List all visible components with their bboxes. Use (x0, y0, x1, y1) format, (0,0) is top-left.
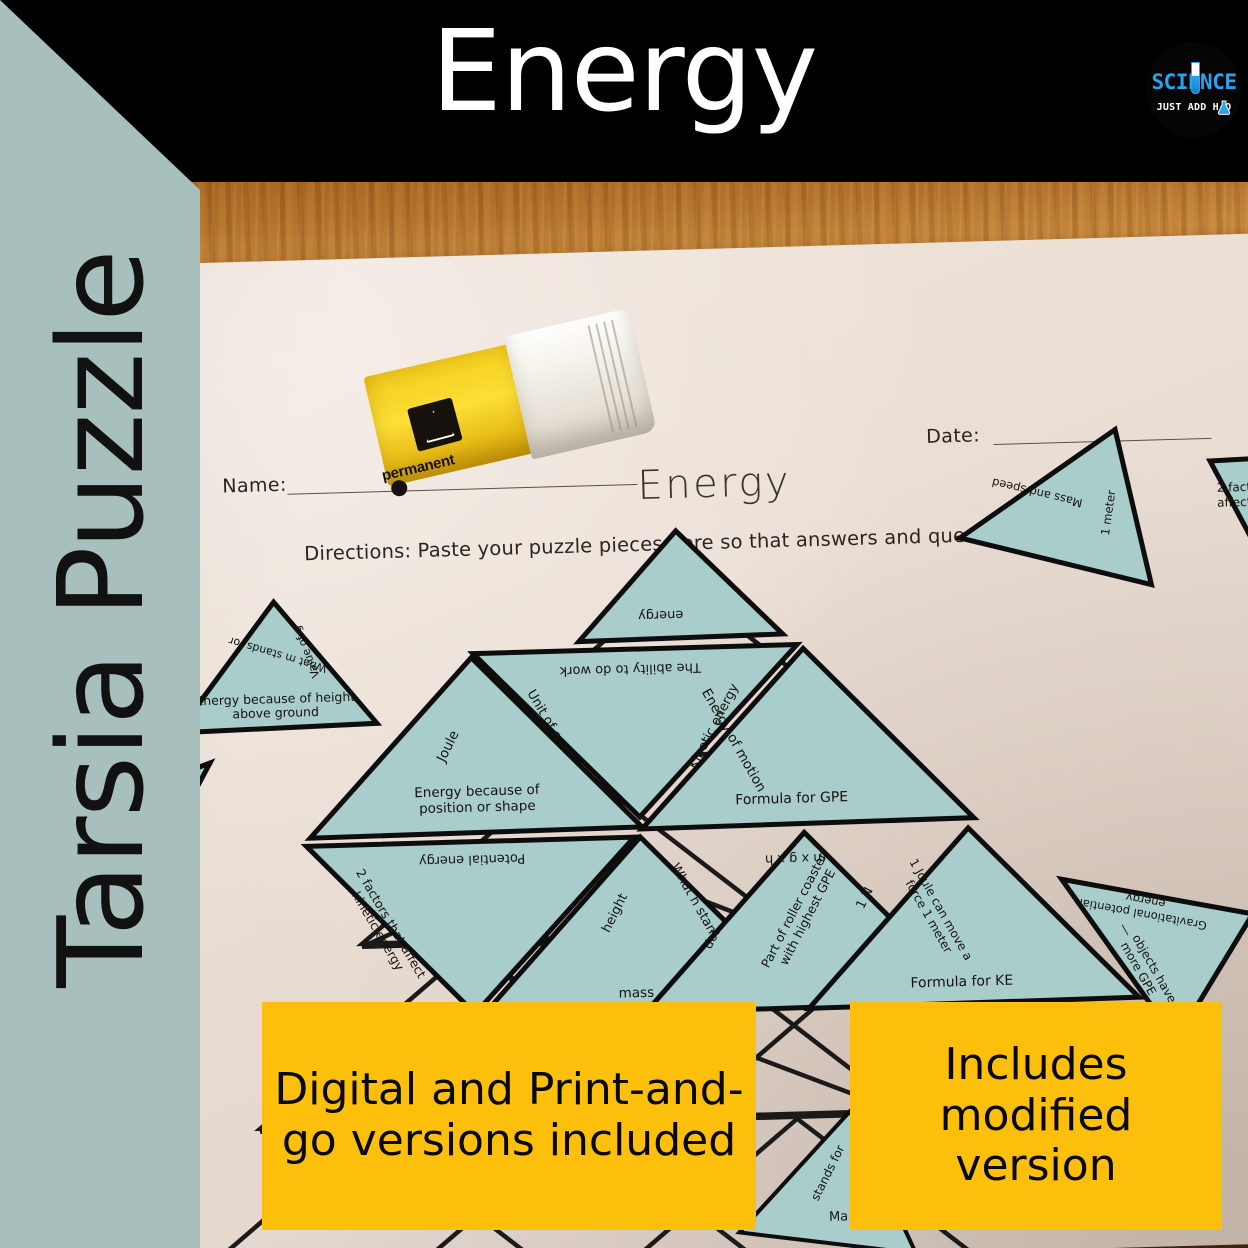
test-tube-icon (1191, 62, 1200, 94)
brand-logo: SCIENCE JUST ADD H₂O (1146, 42, 1242, 138)
avery-logo-icon (407, 397, 463, 451)
sidebar-panel: Tarsia Puzzle (0, 0, 200, 1248)
worksheet-title: Energy (637, 459, 792, 509)
callout-digital-and-print: Digital and Print-and-go versions includ… (262, 1002, 756, 1230)
worksheet-name-label: Name: (222, 474, 287, 498)
glue-stick-dot-icon (390, 479, 409, 498)
flask-icon (1217, 100, 1231, 115)
glue-stick-label: permanent (380, 451, 456, 484)
poster-canvas: Name: Date: Energy Directions: Paste you… (0, 0, 1248, 1248)
glue-stick-body: permanent (363, 344, 534, 487)
sidebar-title: Tarsia Puzzle (42, 114, 160, 1124)
page-title: Energy (0, 16, 1248, 128)
header-bar: Energy (0, 0, 1248, 182)
callout-includes-modified: Includes modified version (850, 1002, 1222, 1230)
